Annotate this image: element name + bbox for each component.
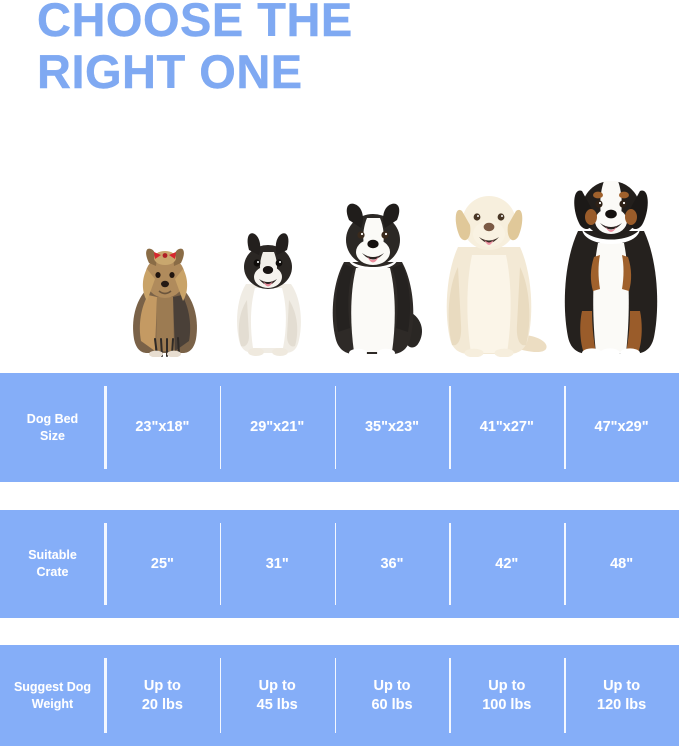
row-label: Suitable Crate — [0, 510, 105, 618]
dog-image-french-bulldog — [215, 222, 320, 357]
page-title: Choose the Right One — [37, 0, 637, 98]
table-cell-text: 41"x27" — [480, 418, 534, 437]
table-cell: 42" — [449, 510, 564, 618]
table-cell-text: 47"x29" — [595, 418, 649, 437]
table-cell: Up to 60 lbs — [335, 645, 450, 746]
table-cell-text: Up to 20 lbs — [142, 677, 183, 715]
table-cell: 41"x27" — [449, 373, 564, 482]
table-cell: 23"x18" — [105, 373, 220, 482]
table-cell: 36" — [335, 510, 450, 618]
dog-image-border-collie — [310, 192, 435, 357]
table-cell: Up to 120 lbs — [564, 645, 679, 746]
table-row-suitable-crate: Suitable Crate25"31"36"42"48" — [0, 510, 679, 618]
table-cell-text: 31" — [266, 555, 289, 574]
dog-illustration-band — [0, 140, 679, 365]
table-cell: 29"x21" — [220, 373, 335, 482]
table-cell: 31" — [220, 510, 335, 618]
row-label: Dog Bed Size — [0, 373, 105, 482]
table-cell-text: Up to 60 lbs — [371, 677, 412, 715]
table-cell: Up to 20 lbs — [105, 645, 220, 746]
table-cell: Up to 45 lbs — [220, 645, 335, 746]
table-cell-text: Up to 120 lbs — [597, 677, 646, 715]
table-row-suggest-dog-weight: Suggest Dog WeightUp to 20 lbsUp to 45 l… — [0, 645, 679, 746]
table-cell-text: Up to 100 lbs — [482, 677, 531, 715]
table-cell: Up to 100 lbs — [449, 645, 564, 746]
dog-image-yorkshire-terrier — [112, 235, 217, 357]
table-cell: 48" — [564, 510, 679, 618]
table-cell: 35"x23" — [335, 373, 450, 482]
table-cell: 47"x29" — [564, 373, 679, 482]
dog-image-bernese-mountain-dog — [548, 161, 673, 357]
table-cell-text: 23"x18" — [135, 418, 189, 437]
row-label-text: Dog Bed Size — [27, 411, 78, 445]
table-cell-text: Up to 45 lbs — [257, 677, 298, 715]
row-label-text: Suggest Dog Weight — [14, 679, 91, 713]
row-label-text: Suitable Crate — [28, 547, 77, 581]
table-cell-text: 42" — [495, 555, 518, 574]
row-label: Suggest Dog Weight — [0, 645, 105, 746]
table-cell-text: 29"x21" — [250, 418, 304, 437]
dog-image-labrador-retriever — [425, 175, 550, 357]
table-cell: 25" — [105, 510, 220, 618]
table-cell-text: 36" — [380, 555, 403, 574]
table-cell-text: 25" — [151, 555, 174, 574]
table-row-dog-bed-size: Dog Bed Size23"x18"29"x21"35"x23"41"x27"… — [0, 373, 679, 482]
table-cell-text: 48" — [610, 555, 633, 574]
table-cell-text: 35"x23" — [365, 418, 419, 437]
